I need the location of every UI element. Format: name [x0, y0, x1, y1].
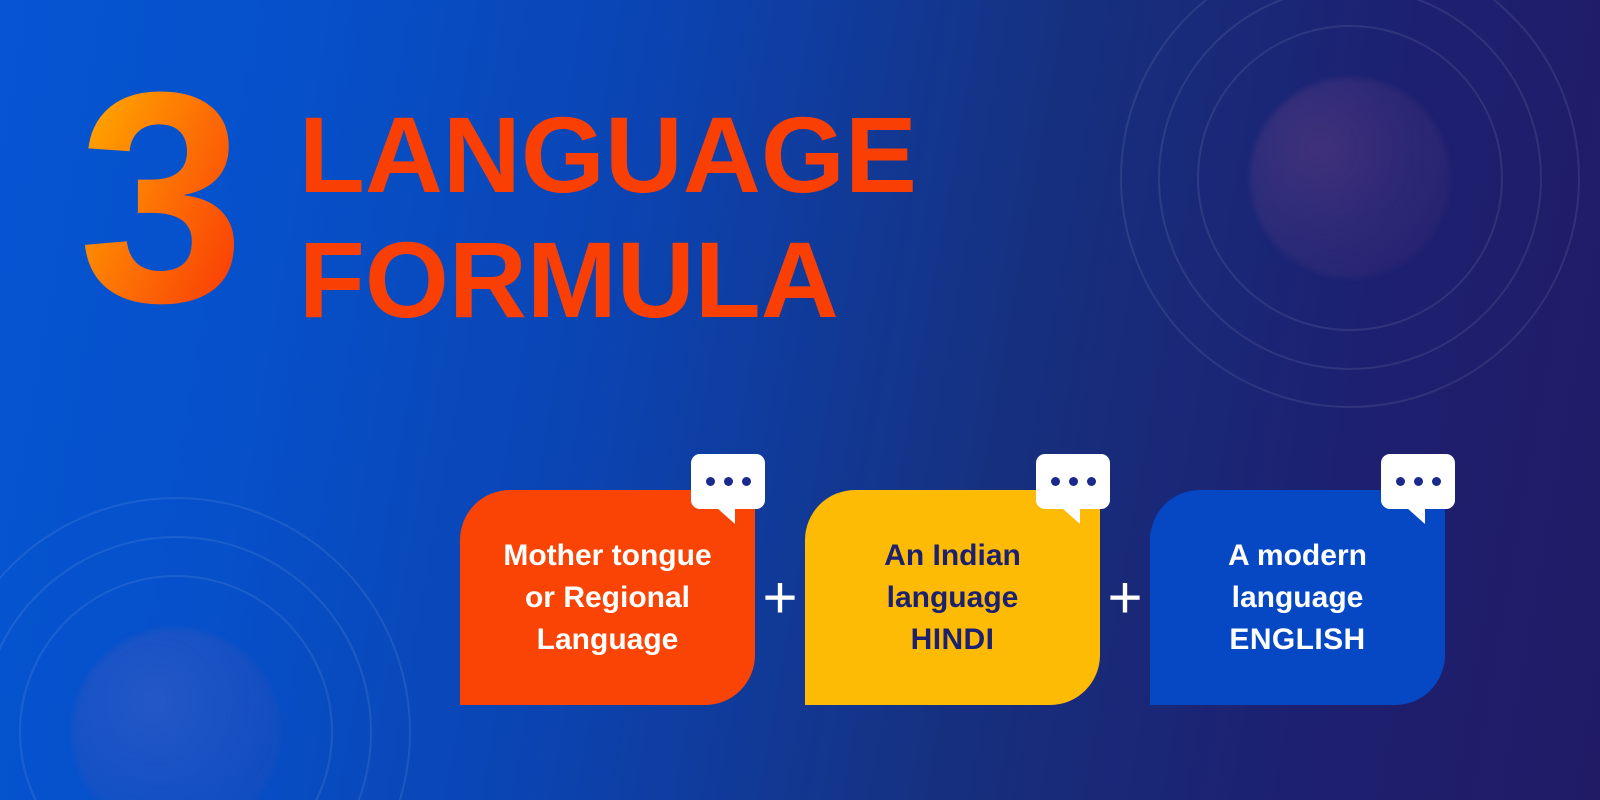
bubble-dot [742, 477, 751, 486]
headline-title: LANGUAGE FORMULA [299, 92, 917, 343]
card-indian-language[interactable]: An Indian language HINDI [805, 490, 1100, 705]
card-line-2: language [1232, 581, 1364, 614]
plus-separator-1: + [755, 490, 805, 705]
card-text: An Indian language HINDI [870, 535, 1035, 661]
card-line-1: An Indian [884, 539, 1021, 572]
plus-separator-2: + [1100, 490, 1150, 705]
formula-cards-row: Mother tongue or Regional Language + An … [460, 490, 1445, 705]
card-text: Mother tongue or Regional Language [489, 535, 725, 661]
ring-middle [0, 536, 372, 800]
bubble-tail [1054, 508, 1080, 524]
ring-inner [19, 575, 333, 800]
bubble-dot [1051, 477, 1060, 486]
bubble-dot [1432, 477, 1441, 486]
card-mother-tongue[interactable]: Mother tongue or Regional Language [460, 490, 755, 705]
headline-title-line-1: LANGUAGE [299, 92, 917, 217]
ring-middle [1158, 0, 1542, 370]
bubble-dot [706, 477, 715, 486]
speech-bubble-icon [1036, 454, 1110, 509]
bubble-dot [1069, 477, 1078, 486]
card-text: A modern language ENGLISH [1214, 535, 1381, 661]
card-line-3: Language [537, 623, 679, 656]
card-line-3: HINDI [911, 623, 995, 656]
card-line-1: A modern [1228, 539, 1367, 572]
headline-title-line-2: FORMULA [299, 217, 917, 342]
headline: 3 LANGUAGE FORMULA [78, 74, 917, 343]
card-line-2: language [887, 581, 1019, 614]
card-wrap-mother-tongue: Mother tongue or Regional Language [460, 490, 755, 705]
ring-outer [0, 497, 411, 800]
bubble-tail [1399, 508, 1425, 524]
bubble-tail [709, 508, 735, 524]
bubble-dot [1414, 477, 1423, 486]
ring-center-blob [72, 628, 280, 800]
card-modern-language[interactable]: A modern language ENGLISH [1150, 490, 1445, 705]
ring-outer [1120, 0, 1580, 408]
bubble-dot [1396, 477, 1405, 486]
headline-number: 3 [78, 74, 247, 320]
ring-inner [1197, 25, 1503, 331]
ring-center-blob [1250, 78, 1450, 278]
card-wrap-modern-language: A modern language ENGLISH [1150, 490, 1445, 705]
speech-bubble-icon [1381, 454, 1455, 509]
bubble-dot [1087, 477, 1096, 486]
card-wrap-indian-language: An Indian language HINDI [805, 490, 1100, 705]
card-line-2: or Regional [525, 581, 690, 614]
bubble-dot [724, 477, 733, 486]
infographic-canvas: 3 LANGUAGE FORMULA Mother tongue or Regi… [0, 0, 1600, 800]
speech-bubble-icon [691, 454, 765, 509]
card-line-1: Mother tongue [503, 539, 711, 572]
card-line-3: ENGLISH [1229, 623, 1365, 656]
